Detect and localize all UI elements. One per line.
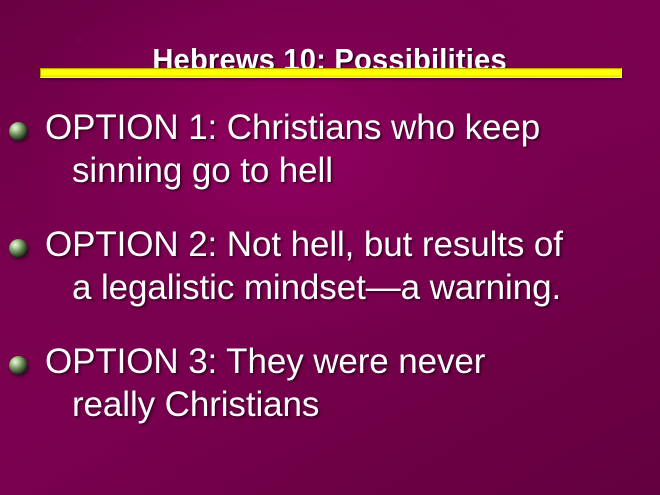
bullet-line-primary: OPTION 3: They were never bbox=[45, 342, 485, 381]
bullet-text-option-1: OPTION 1: Christians who keep sinning go… bbox=[0, 106, 660, 192]
bullet-line-primary: OPTION 2: Not hell, but results of bbox=[45, 225, 563, 264]
bullet-text-option-3: OPTION 3: They were never really Christi… bbox=[0, 340, 660, 426]
presentation-slide: Hebrews 10: Possibilities OPTION 1: Chri… bbox=[0, 0, 660, 495]
title-divider-rule bbox=[40, 68, 622, 78]
title-block: Hebrews 10: Possibilities bbox=[0, 23, 660, 96]
bullet-line-continuation: a legalistic mindset—a warning. bbox=[45, 266, 646, 309]
bullet-line-primary: OPTION 1: Christians who keep bbox=[45, 108, 540, 147]
bullet-item-option-3: OPTION 3: They were never really Christi… bbox=[0, 340, 660, 426]
sphere-bullet-icon bbox=[9, 122, 28, 141]
bullet-item-option-2: OPTION 2: Not hell, but results of a leg… bbox=[0, 223, 660, 309]
sphere-bullet-icon bbox=[9, 239, 28, 258]
bullet-text-option-2: OPTION 2: Not hell, but results of a leg… bbox=[0, 223, 660, 309]
bullet-line-continuation: sinning go to hell bbox=[45, 149, 646, 192]
bullet-line-continuation: really Christians bbox=[45, 383, 646, 426]
bullet-list: OPTION 1: Christians who keep sinning go… bbox=[0, 106, 660, 457]
bullet-item-option-1: OPTION 1: Christians who keep sinning go… bbox=[0, 106, 660, 192]
